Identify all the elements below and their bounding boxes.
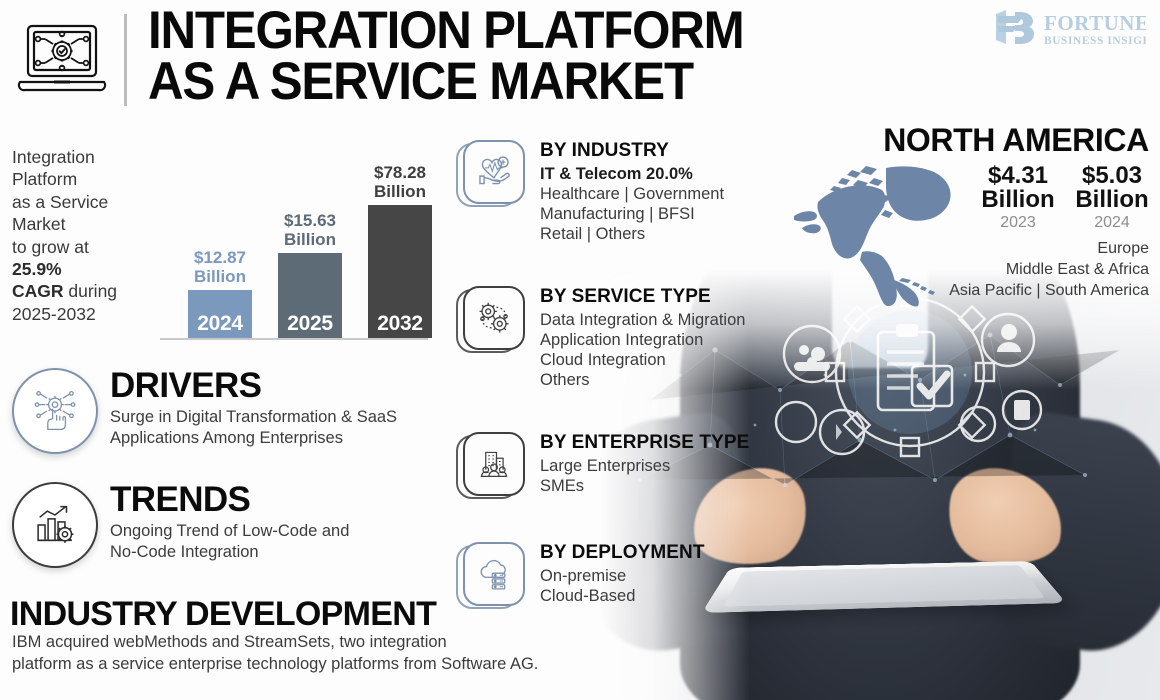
- other-regions-list: Europe Middle East & Africa Asia Pacific…: [880, 238, 1155, 301]
- segment-lines: Large Enterprises SMEs: [540, 456, 749, 496]
- icon-frame-front: [463, 140, 525, 204]
- icon-frame-front: [463, 286, 525, 350]
- hand-gear-network-icon: [12, 368, 98, 454]
- market-summary: Integration Platform as a Service Market…: [12, 146, 157, 325]
- region-unit-2023: Billion: [975, 188, 1061, 212]
- icon-frame-front: [463, 432, 525, 496]
- bar-chart-gear-growth-icon: [12, 482, 98, 568]
- summary-cagr-label: CAGR: [12, 281, 64, 301]
- bar-value-2032: $78.28 Billion: [354, 164, 446, 201]
- laptop-integration-icon: [14, 18, 110, 102]
- buildings-people-icon: [456, 432, 526, 502]
- industry-development-line2: platform as a service enterprise technol…: [12, 654, 592, 676]
- bar-value-2024: $12.87 Billion: [174, 249, 266, 286]
- bar-2025: 2025: [278, 253, 342, 338]
- bar-value-amount-2025: $15.63: [284, 211, 336, 230]
- segment-line-2: Cloud-Based: [540, 586, 705, 606]
- trends-heading: TRENDS: [110, 482, 349, 517]
- bar-2032: 2032: [368, 205, 432, 338]
- trends-block: TRENDS Ongoing Trend of Low-Code and No-…: [12, 482, 442, 568]
- bar-value-unit-2025: Billion: [284, 230, 336, 249]
- region-figures: $4.31 Billion 2023 $5.03 Billion 2024: [975, 164, 1155, 232]
- summary-line-3: Market: [12, 213, 157, 235]
- cloud-server-icon: [456, 542, 526, 612]
- region-year-2024: 2024: [1069, 214, 1155, 232]
- segment-by-deployment: BY DEPLOYMENT On-premise Cloud-Based: [456, 542, 776, 612]
- segment-line-1: Large Enterprises: [540, 456, 749, 476]
- industry-development-body: IBM acquired webMethods and StreamSets, …: [12, 632, 592, 676]
- bar-year-2032: 2032: [368, 312, 432, 336]
- segment-lines: Data Integration & Migration Application…: [540, 310, 745, 391]
- industry-development-heading: INDUSTRY DEVELOPMENT: [10, 595, 436, 634]
- segment-line-2: Manufacturing | BFSI: [540, 204, 724, 224]
- segment-by-industry: BY INDUSTRY IT & Telecom 20.0% Healthcar…: [456, 140, 776, 245]
- drivers-heading: DRIVERS: [110, 368, 397, 403]
- bar-value-amount-2024: $12.87: [194, 248, 246, 267]
- bar-year-2024: 2024: [188, 312, 252, 336]
- page-title-line2: AS A SERVICE MARKET: [148, 57, 818, 108]
- segment-line-1: On-premise: [540, 566, 705, 586]
- segment-highlight: IT & Telecom 20.0%: [540, 164, 724, 184]
- other-region-3: Asia Pacific | South America: [880, 280, 1149, 301]
- segment-line-2: Application Integration: [540, 330, 745, 350]
- segment-line-3: Cloud Integration: [540, 350, 745, 370]
- bar-year-2025: 2025: [278, 312, 342, 336]
- segment-line-1: Data Integration & Migration: [540, 310, 745, 330]
- page-title: INTEGRATION PLATFORM AS A SERVICE MARKET: [148, 6, 818, 108]
- summary-period: 2025-2032: [12, 303, 157, 325]
- segment-by-service-type: BY SERVICE TYPE Data Integration & Migra…: [456, 286, 776, 391]
- region-figure-2024: $5.03 Billion 2024: [1069, 164, 1155, 232]
- market-bar-chart: 2024 2025 2032 $12.87 Billion $15.63 Bil…: [160, 148, 428, 340]
- summary-line-2: as a Service: [12, 191, 157, 213]
- segment-line-3: Retail | Others: [540, 224, 724, 244]
- summary-cagr-value: 25.9%: [12, 259, 62, 279]
- icon-frame-front: [463, 542, 525, 606]
- trends-body-line1: Ongoing Trend of Low-Code and: [110, 521, 349, 542]
- drivers-block: DRIVERS Surge in Digital Transformation …: [12, 368, 442, 454]
- region-title: NORTH AMERICA: [880, 122, 1152, 159]
- chart-baseline: [160, 338, 428, 340]
- bar-2024: 2024: [188, 290, 252, 338]
- drivers-body: Surge in Digital Transformation & SaaS A…: [110, 407, 397, 448]
- trends-body: Ongoing Trend of Low-Code and No-Code In…: [110, 521, 349, 562]
- segment-line-1: Healthcare | Government: [540, 184, 724, 204]
- hand-heart-plus-icon: [456, 140, 526, 210]
- two-gears-icon: [456, 286, 526, 356]
- segment-lines: IT & Telecom 20.0% Healthcare | Governme…: [540, 164, 724, 245]
- segment-lines: On-premise Cloud-Based: [540, 566, 705, 606]
- segment-line-2: SMEs: [540, 476, 749, 496]
- svg-text:BUSINESS INSIGHTS: BUSINESS INSIGHTS: [1044, 35, 1146, 47]
- region-year-2023: 2023: [975, 214, 1061, 232]
- drivers-body-line2: Applications Among Enterprises: [110, 428, 397, 449]
- svg-text:FORTUNE: FORTUNE: [1044, 11, 1146, 35]
- summary-line-1: Integration Platform: [12, 146, 157, 191]
- segment-line-4: Others: [540, 370, 745, 390]
- other-region-2: Middle East & Africa: [880, 259, 1149, 280]
- segment-title: BY ENTERPRISE TYPE: [540, 432, 749, 454]
- title-divider: [124, 14, 127, 106]
- summary-during: during: [64, 281, 118, 301]
- segment-title: BY DEPLOYMENT: [540, 542, 705, 564]
- segment-title: BY INDUSTRY: [540, 140, 724, 162]
- summary-line-4: to grow at: [12, 236, 157, 258]
- region-figure-2023: $4.31 Billion 2023: [975, 164, 1061, 232]
- region-amount-2024: $5.03: [1069, 164, 1155, 188]
- region-amount-2023: $4.31: [975, 164, 1061, 188]
- segment-by-enterprise-type: BY ENTERPRISE TYPE Large Enterprises SME…: [456, 432, 776, 502]
- bar-value-unit-2032: Billion: [374, 182, 426, 201]
- bar-value-2025: $15.63 Billion: [264, 212, 356, 249]
- other-region-1: Europe: [880, 238, 1149, 259]
- bar-value-unit-2024: Billion: [194, 267, 246, 286]
- industry-development-line1: IBM acquired webMethods and StreamSets, …: [12, 632, 592, 654]
- fortune-business-insights-logo: FORTUNE BUSINESS INSIGHTS: [994, 8, 1146, 52]
- bar-value-amount-2032: $78.28: [374, 163, 426, 182]
- infographic-root: INTEGRATION PLATFORM AS A SERVICE MARKET…: [0, 0, 1160, 700]
- trends-body-line2: No-Code Integration: [110, 542, 349, 563]
- drivers-body-line1: Surge in Digital Transformation & SaaS: [110, 407, 397, 428]
- region-unit-2024: Billion: [1069, 188, 1155, 212]
- segment-title: BY SERVICE TYPE: [540, 286, 745, 308]
